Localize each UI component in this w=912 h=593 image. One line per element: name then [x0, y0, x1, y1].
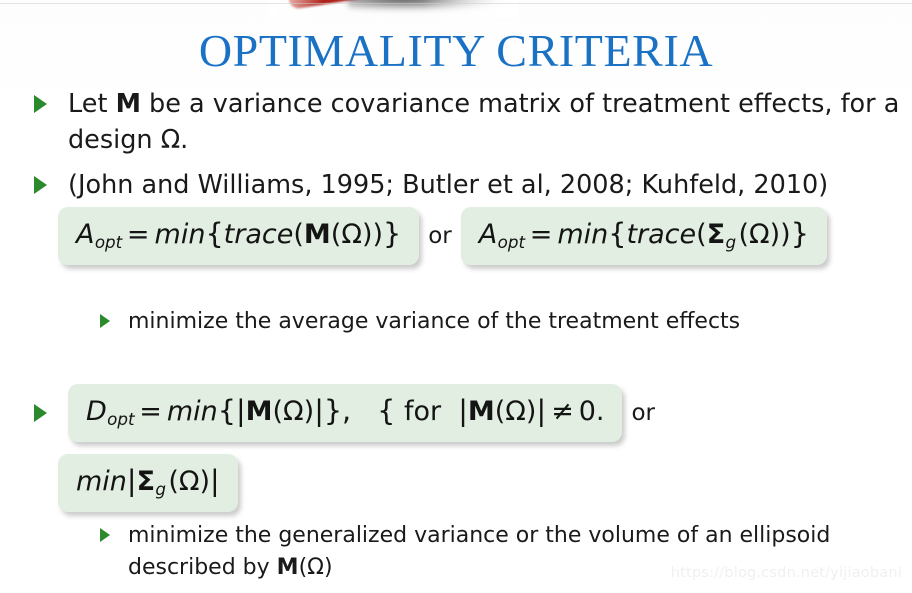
slide-canvas: OPTIMALITY CRITERIA Let M be a variance … — [0, 0, 912, 593]
or-label-1: or — [419, 219, 461, 253]
top-hairline-divider — [0, 3, 912, 4]
formula-a-opt-m: Aopt=min{trace(M(Ω))} — [58, 207, 419, 265]
formula-row-d-opt: Dopt=min{|M(Ω)|},{ for |M(Ω)|≠0. or — [34, 384, 664, 442]
bullet-item-1: Let M be a variance covariance matrix of… — [34, 86, 912, 158]
decoration-red-object — [287, 0, 415, 10]
bullet-item-2-label: (John and Williams, 1995; Butler et al, … — [68, 167, 828, 203]
slide-body: Let M be a variance covariance matrix of… — [0, 86, 912, 203]
bullet-item-1-label: Let M be a variance covariance matrix of… — [68, 86, 908, 158]
decoration-shadow — [348, 0, 508, 10]
formula-d-opt-m: Dopt=min{|M(Ω)|},{ for |M(Ω)|≠0. — [68, 384, 622, 442]
triangle-bullet-icon — [100, 528, 110, 542]
triangle-bullet-icon — [100, 314, 110, 328]
formula-a-opt-sigma: Aopt=min{trace(Σg (Ω))} — [461, 207, 827, 265]
triangle-bullet-icon — [34, 95, 47, 113]
watermark-text: https://blog.csdn.net/yijiaobani — [671, 565, 902, 581]
matrix-symbol-m: M — [277, 555, 299, 580]
triangle-bullet-icon — [34, 176, 47, 194]
sub-bullet-item-1: minimize the average variance of the tre… — [100, 306, 912, 338]
bullet-item-2: (John and Williams, 1995; Butler et al, … — [34, 167, 912, 203]
page-title: OPTIMALITY CRITERIA — [0, 24, 912, 78]
formula-row-a-opt: Aopt=min{trace(M(Ω))} or Aopt=min{trace(… — [58, 207, 827, 265]
formula-row-d-opt-sigma: min|Σg (Ω)| — [58, 454, 238, 512]
sub-bullet-item-1-label: minimize the average variance of the tre… — [128, 306, 740, 338]
formula-min-sigma-g: min|Σg (Ω)| — [58, 454, 238, 512]
triangle-bullet-icon — [34, 404, 47, 422]
or-label-2: or — [622, 396, 664, 430]
sub-bullet-row-1: minimize the average variance of the tre… — [0, 306, 912, 338]
matrix-symbol-m: M — [116, 89, 141, 119]
